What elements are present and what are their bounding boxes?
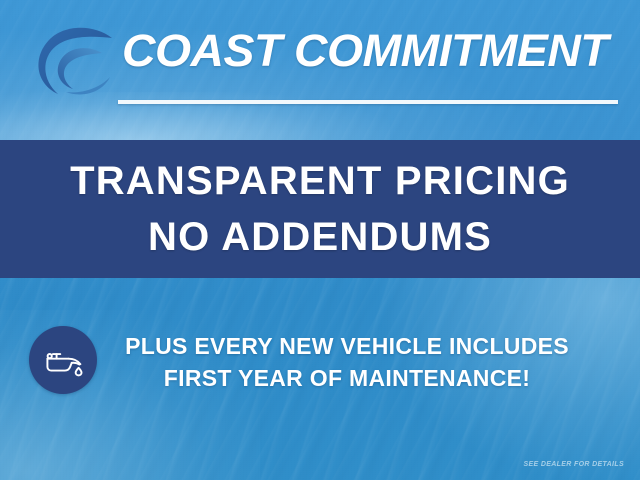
header-divider: [118, 100, 618, 104]
banner-header: COAST COMMITMENT: [0, 0, 640, 140]
promo-line-2: FIRST YEAR OF MAINTENANCE!: [112, 362, 582, 394]
headline-block: TRANSPARENT PRICING NO ADDENDUMS: [0, 140, 640, 278]
oil-can-drip-icon: [29, 326, 97, 394]
promo-line-1: PLUS EVERY NEW VEHICLE INCLUDES: [112, 330, 582, 362]
headline-line-1: TRANSPARENT PRICING: [70, 153, 570, 209]
disclaimer-text: SEE DEALER FOR DETAILS: [523, 461, 624, 468]
promo-text: PLUS EVERY NEW VEHICLE INCLUDES FIRST YE…: [112, 330, 582, 394]
brand-title: COAST COMMITMENT: [122, 25, 637, 77]
coast-wave-swirl-icon: [24, 22, 120, 104]
promo-row: PLUS EVERY NEW VEHICLE INCLUDES FIRST YE…: [0, 320, 640, 410]
coast-commitment-banner: COAST COMMITMENT TRANSPARENT PRICING NO …: [0, 0, 640, 480]
headline-line-2: NO ADDENDUMS: [148, 209, 492, 265]
